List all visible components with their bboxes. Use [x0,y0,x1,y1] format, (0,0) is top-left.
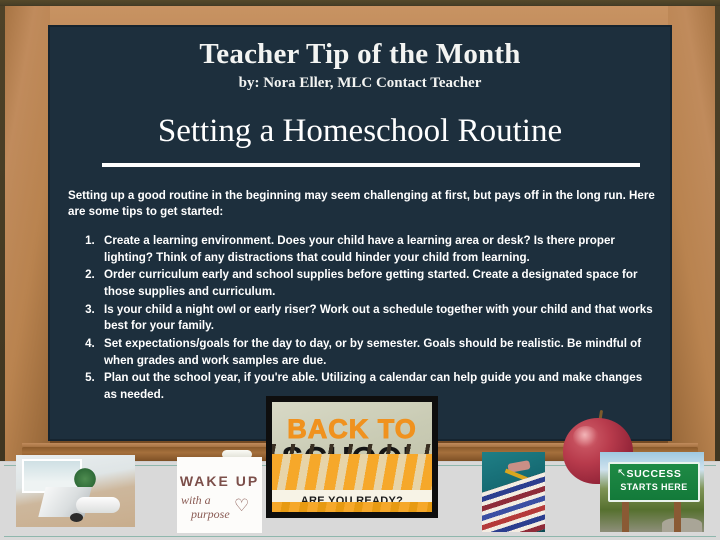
heart-icon: ♡ [234,497,254,515]
notebook-stack [482,469,545,532]
intro-paragraph: Setting up a good routine in the beginni… [68,188,656,221]
success-line2: STARTS HERE [610,482,698,492]
wood-frame-left-edge [0,6,5,514]
banner-stripe [272,502,432,512]
body-content: Setting up a good routine in the beginni… [68,188,656,405]
bowl-shape [70,513,83,522]
wake-up-with-a-purpose-card: WAKE UP with a purpose ♡ [177,457,262,533]
list-item: Order curriculum early and school suppli… [98,267,656,300]
wood-frame-right-edge [715,6,720,514]
list-item: Is your child a night owl or early riser… [98,302,656,335]
success-starts-here-sign-photo: ↖ SUCCESS STARTS HERE [600,452,704,532]
apple-highlight [573,426,599,448]
paper-roll-shape [76,497,120,513]
rock-shape [662,518,702,532]
back-to-school-poster: BACK TO SCHOOL ARE YOU READY? [266,396,438,518]
pencils-graphic [272,454,432,490]
wood-frame-left [0,6,50,514]
list-item: Set expectations/goals for the day to da… [98,336,656,369]
wood-frame-right [668,6,720,514]
list-item: Create a learning environment. Does your… [98,233,656,266]
road-sign: ↖ SUCCESS STARTS HERE [608,462,700,502]
desk-with-laptop-photo [16,455,135,527]
wake-up-line1: WAKE UP [177,473,262,489]
chalkboard: Teacher Tip of the Month by: Nora Eller,… [48,25,672,441]
plant-icon [72,467,98,487]
page-title: Teacher Tip of the Month [48,25,672,69]
wake-up-line2: with a [181,493,211,508]
title-divider [102,163,640,167]
strip-rule-bottom [4,536,716,537]
tips-list: Create a learning environment. Does your… [68,233,656,404]
wake-up-line3: purpose [191,507,230,522]
subtitle: Setting a Homeschool Routine [48,114,672,149]
poster-inner: BACK TO SCHOOL ARE YOU READY? [272,402,432,512]
notebooks-and-pencil-photo [482,452,545,532]
success-line1: SUCCESS [610,468,698,480]
byline: by: Nora Eller, MLC Contact Teacher [48,75,672,92]
slide-canvas: Teacher Tip of the Month by: Nora Eller,… [0,0,720,540]
